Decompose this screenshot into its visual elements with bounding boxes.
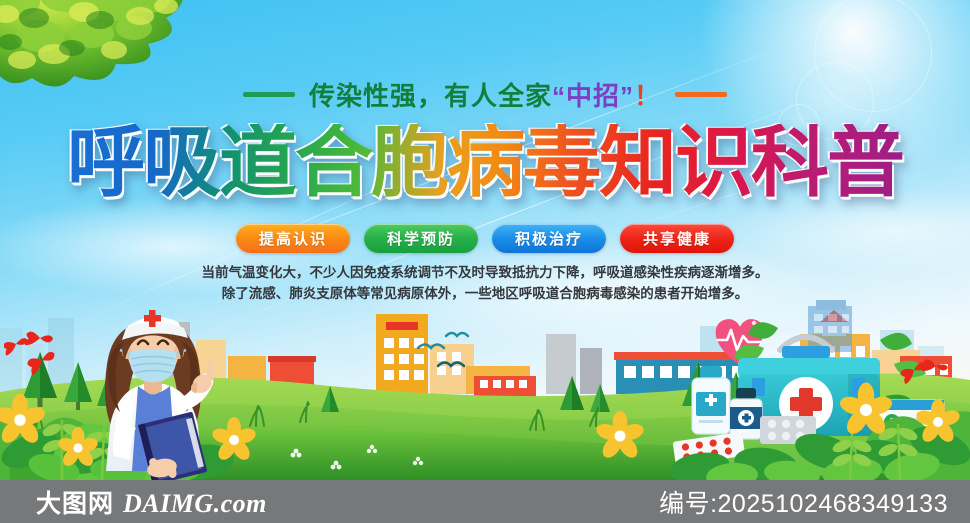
badge-shared-health[interactable]: 共享健康 <box>620 224 734 253</box>
subtitle-part-purple: “中招” <box>552 81 634 111</box>
face-mask <box>130 349 177 383</box>
subtitle-part-green: 传染性强，有人全家 <box>309 81 552 111</box>
butterfly-icons-right <box>894 356 954 400</box>
watermark-cn-text: 大图网 <box>36 484 114 520</box>
subtitle-text: 传染性强，有人全家“中招”！ <box>309 76 661 113</box>
main-title-text: 呼吸道合胞病毒知识科普 <box>67 124 903 202</box>
main-title: 呼吸道合胞病毒知识科普 <box>0 124 970 202</box>
footer-bar: 大图网 DAIMG.com 编号:2025102468349133 <box>0 480 970 523</box>
poster-canvas: 传染性强，有人全家“中招”！ 呼吸道合胞病毒知识科普 提高认识 科学预防 积极治… <box>0 0 970 523</box>
watermark-left: 大图网 DAIMG.com <box>36 484 267 520</box>
butterfly-icon-5 <box>921 358 948 376</box>
badge-scientific-prevention[interactable]: 科学预防 <box>364 224 478 253</box>
subtitle-part-red: ！ <box>634 81 661 111</box>
butterfly-icon-2 <box>25 331 54 349</box>
butterfly-icon-1 <box>4 336 30 356</box>
badge-row: 提高认识 科学预防 积极治疗 共享健康 <box>0 224 970 253</box>
butterfly-icon-3 <box>26 349 59 375</box>
subtitle-dash-right <box>675 92 727 97</box>
watermark-en-text: DAIMG.com <box>123 489 267 519</box>
asset-code: 编号:2025102468349133 <box>659 484 948 520</box>
cap-cross-horizontal <box>144 315 161 322</box>
badge-active-treatment[interactable]: 积极治疗 <box>492 224 606 253</box>
subtitle-dash-left <box>243 92 295 97</box>
index-finger <box>206 362 214 382</box>
body-line-1: 当前气温变化大，不少人因免疫系统调节不及时导致抵抗力下降，呼吸道感染性疾病逐渐增… <box>0 262 970 283</box>
badge-improve-awareness[interactable]: 提高认识 <box>236 224 350 253</box>
subtitle-row: 传染性强，有人全家“中招”！ <box>0 76 970 113</box>
nurse-character <box>58 298 248 483</box>
